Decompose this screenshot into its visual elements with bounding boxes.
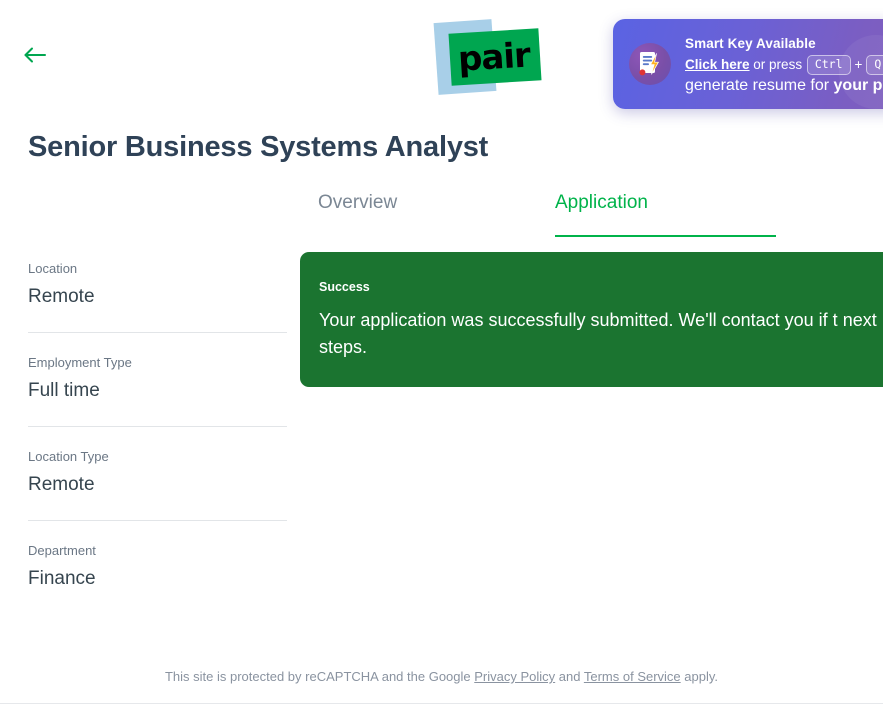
press-text: or press (750, 57, 806, 72)
detail-row-location: Location Remote (28, 257, 287, 313)
detail-label: Location (28, 257, 287, 281)
success-alert-title: Success (319, 279, 883, 295)
terms-of-service-link[interactable]: Terms of Service (584, 669, 681, 684)
footer-divider (0, 703, 883, 704)
pair-logo[interactable]: pair (432, 13, 544, 101)
detail-value: Remote (28, 281, 287, 313)
logo-wordmark: pair (457, 34, 551, 80)
detail-row-employment-type: Employment Type Full time (28, 351, 287, 407)
privacy-policy-link[interactable]: Privacy Policy (474, 669, 555, 684)
active-tab-indicator (555, 235, 776, 237)
kbd-plus: + (852, 57, 866, 72)
detail-row-location-type: Location Type Remote (28, 445, 287, 501)
back-arrow-icon (23, 46, 47, 64)
smart-key-title: Smart Key Available (685, 33, 883, 54)
tab-overview[interactable]: Overview (318, 192, 397, 226)
job-application-page: pair Smart Key Available Click here or p… (0, 0, 883, 708)
smart-key-instruction: Click here or press Ctrl+Q (685, 54, 883, 75)
footer-text-after: apply. (681, 669, 718, 684)
click-here-link[interactable]: Click here (685, 57, 750, 72)
back-button[interactable] (20, 41, 50, 69)
detail-value: Finance (28, 563, 287, 595)
detail-value: Remote (28, 469, 287, 501)
smart-key-subtext-strong: your profi (834, 77, 883, 94)
recaptcha-footer: This site is protected by reCAPTCHA and … (0, 666, 883, 688)
detail-value: Full time (28, 375, 287, 407)
top-bar: pair Smart Key Available Click here or p… (0, 0, 883, 112)
resume-lightning-icon (629, 43, 671, 85)
footer-text-before: This site is protected by reCAPTCHA and … (165, 669, 474, 684)
detail-divider (28, 332, 287, 333)
success-alert-message: Your application was successfully submit… (319, 307, 883, 361)
detail-label: Employment Type (28, 351, 287, 375)
detail-divider (28, 520, 287, 521)
job-details-list: Location Remote Employment Type Full tim… (28, 257, 287, 595)
kbd-q: Q (866, 55, 883, 75)
tab-application[interactable]: Application (555, 192, 648, 226)
smart-key-banner[interactable]: Smart Key Available Click here or press … (613, 19, 883, 109)
detail-row-department: Department Finance (28, 539, 287, 595)
tab-bar: Overview Application (300, 192, 883, 238)
smart-key-text: Smart Key Available Click here or press … (685, 33, 883, 96)
detail-divider (28, 426, 287, 427)
page-title: Senior Business Systems Analyst (28, 131, 488, 164)
detail-label: Location Type (28, 445, 287, 469)
success-alert: Success Your application was successfull… (300, 252, 883, 387)
detail-label: Department (28, 539, 287, 563)
smart-key-subtext: generate resume for your profi (685, 75, 883, 96)
smart-key-subtext-prefix: generate resume for (685, 77, 834, 94)
footer-text-middle: and (555, 669, 584, 684)
kbd-ctrl: Ctrl (807, 55, 851, 75)
